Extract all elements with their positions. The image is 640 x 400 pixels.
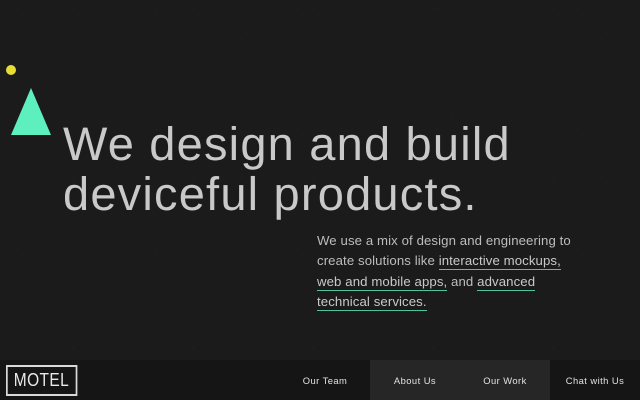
lede-text-3: and	[447, 274, 477, 289]
page-root: We design and build deviceful products. …	[0, 0, 640, 400]
nav-item-about-us[interactable]: About Us	[370, 360, 460, 400]
green-triangle-icon	[11, 88, 51, 135]
logo-area: MOTEL	[0, 360, 280, 400]
link-interactive-mockups[interactable]: interactive mockups,	[439, 253, 561, 270]
nav-item-our-team[interactable]: Our Team	[280, 360, 370, 400]
yellow-dot-icon	[6, 65, 16, 75]
footer-nav: Our Team About Us Our Work Chat with Us	[280, 360, 640, 400]
page-title: We design and build deviceful products.	[63, 119, 623, 219]
motel-logo[interactable]: MOTEL	[6, 365, 77, 396]
lede-paragraph: We use a mix of design and engineering t…	[317, 231, 585, 312]
link-web-and-mobile-apps[interactable]: web and mobile apps,	[317, 274, 447, 291]
footer-bar: MOTEL Our Team About Us Our Work Chat wi…	[0, 360, 640, 400]
nav-item-our-work[interactable]: Our Work	[460, 360, 550, 400]
nav-item-chat-with-us[interactable]: Chat with Us	[550, 360, 640, 400]
